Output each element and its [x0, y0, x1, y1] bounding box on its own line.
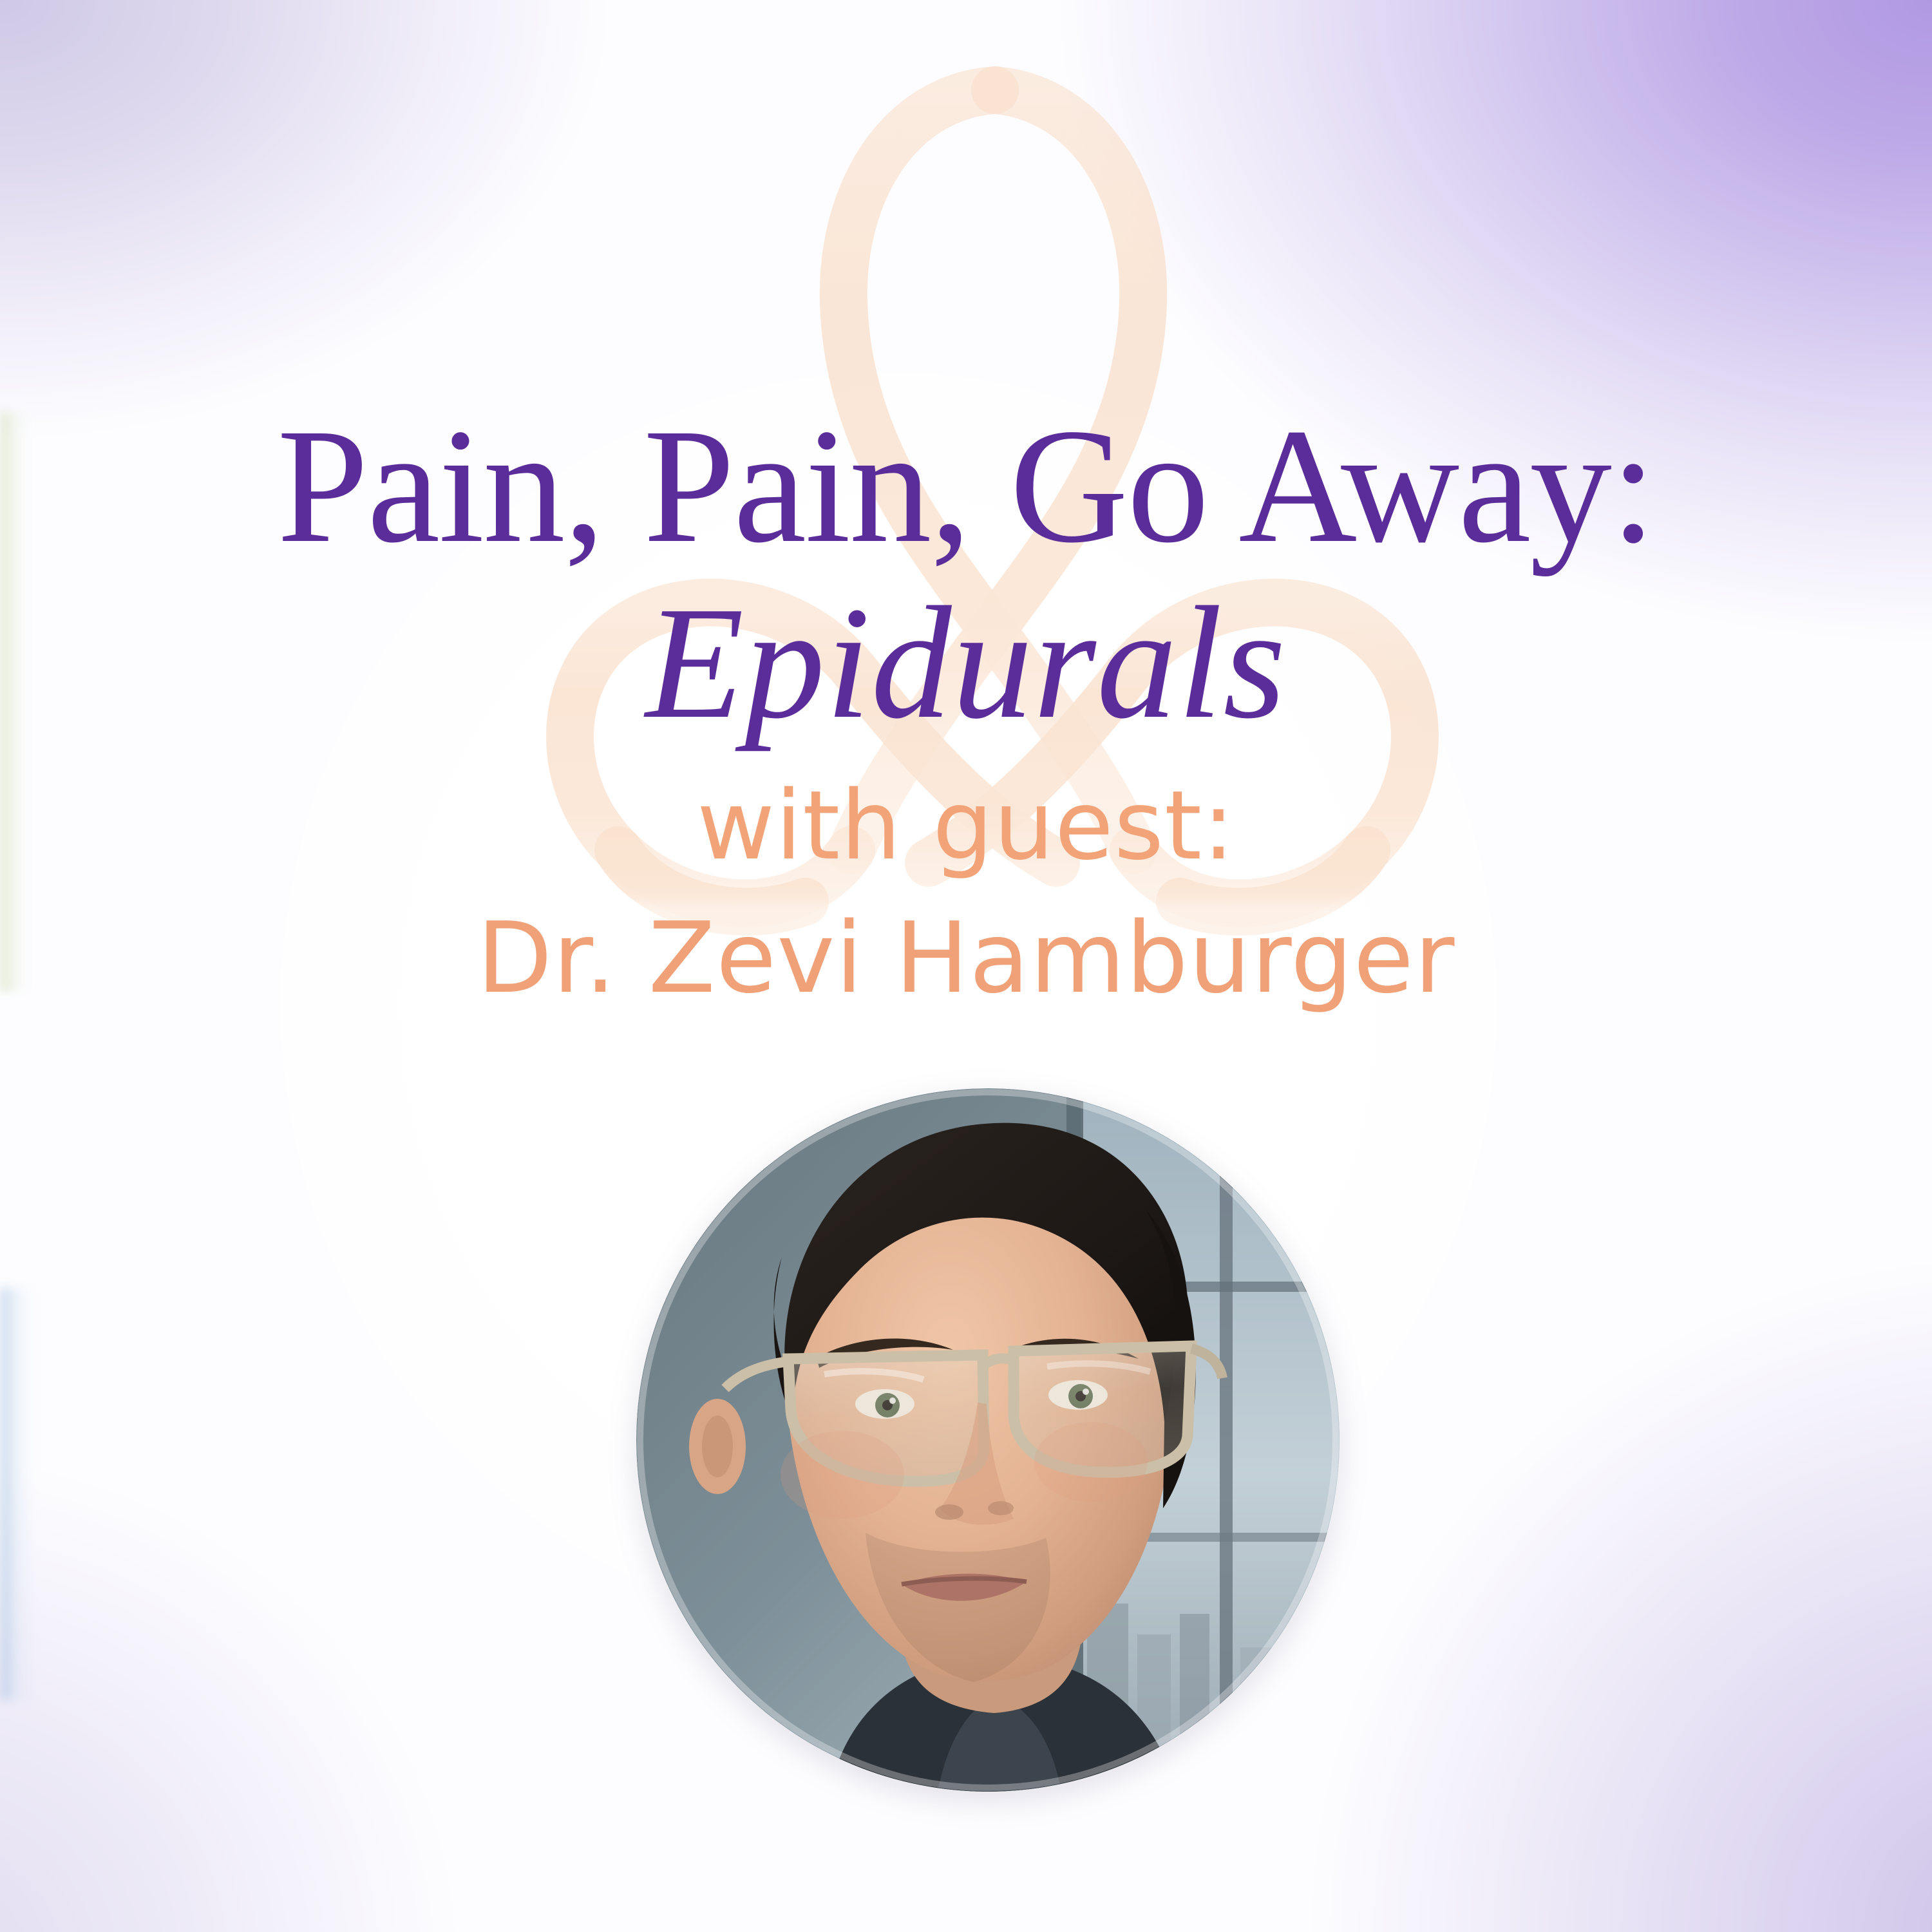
guest-name: Dr. Zevi Hamburger: [0, 909, 1932, 1007]
guest-portrait-image: [636, 1088, 1340, 1792]
guest-portrait-avatar: [636, 1088, 1340, 1792]
episode-cover-poster: Pain, Pain, Go Away: Epidurals with gues…: [0, 0, 1932, 1932]
guest-label: with guest:: [0, 778, 1932, 873]
episode-title-line-1: Pain, Pain, Go Away:: [0, 404, 1932, 569]
episode-title-line-2: Epidurals: [0, 583, 1932, 744]
